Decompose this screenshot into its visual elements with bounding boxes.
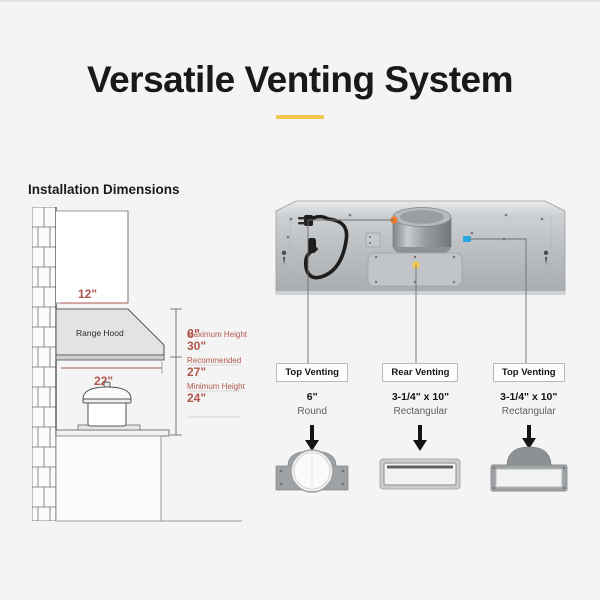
venting-card-shape: Round: [297, 406, 326, 417]
page-title: Versatile Venting System: [0, 60, 600, 101]
recommended-height-value: 27": [187, 365, 206, 379]
svg-text:Range Hood: Range Hood: [76, 328, 124, 338]
top-edge-divider: [0, 0, 600, 2]
venting-card-rear-rect[interactable]: Rear Venting 3-1/4" x 10" Rectangular: [366, 363, 474, 499]
venting-card-size: 6": [307, 391, 318, 403]
marker-rear-rect-duct: [463, 236, 471, 242]
dome-rect-adapter-illustration: [479, 423, 579, 499]
max-height-caption: Maximum Height: [187, 330, 247, 339]
round-adapter-illustration: [262, 423, 362, 499]
marker-top-rect-duct: [412, 261, 419, 268]
venting-card-label: Rear Venting: [382, 363, 458, 382]
venting-card-label: Top Venting: [276, 363, 348, 382]
venting-card-shape: Rectangular: [502, 406, 556, 417]
svg-text:12": 12": [78, 287, 97, 301]
venting-cards: Top Venting 6" Round: [258, 363, 583, 499]
recommended-height-caption: Recommended: [187, 356, 241, 365]
min-height-value: 24": [187, 391, 206, 405]
venting-card-size: 3-1/4" x 10": [500, 391, 557, 403]
min-height-caption: Minimum Height: [187, 382, 245, 391]
title-accent-bar: [276, 115, 324, 119]
installation-dimensions-heading: Installation Dimensions: [28, 182, 180, 197]
page-header: Versatile Venting System: [0, 60, 600, 119]
max-height-value: 30": [187, 339, 206, 353]
venting-options-panel: Top Venting 6" Round: [258, 195, 583, 525]
venting-card-shape: Rectangular: [393, 406, 447, 417]
venting-card-size: 3-1/4" x 10": [392, 391, 449, 403]
rect-adapter-illustration: [370, 423, 470, 499]
venting-card-top-rect[interactable]: Top Venting 3-1/4" x 10" Rectangular: [475, 363, 583, 499]
venting-card-top-round[interactable]: Top Venting 6" Round: [258, 363, 366, 499]
range-hood-underside-illustration: [258, 195, 583, 320]
venting-card-label: Top Venting: [493, 363, 565, 382]
installation-diagram: Range Hood 12" 22" 6": [28, 205, 243, 525]
marker-round-duct: [390, 216, 397, 223]
